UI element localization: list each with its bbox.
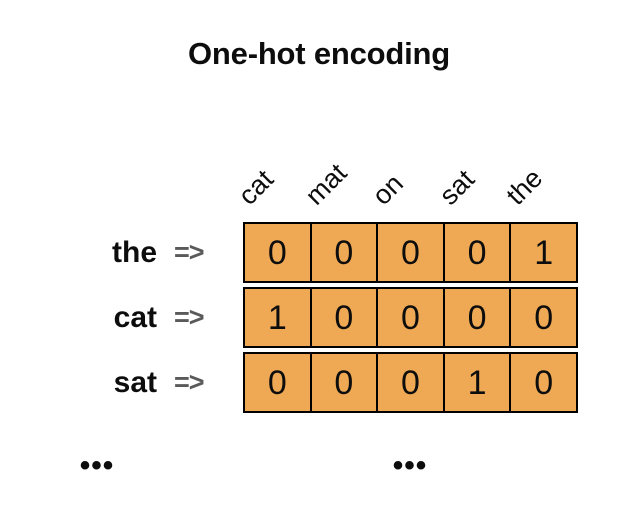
column-header-label: the xyxy=(502,164,548,210)
matrix-cell: 0 xyxy=(511,289,576,346)
row-label-sat: sat => xyxy=(0,352,232,413)
column-header-label: mat xyxy=(301,159,352,210)
column-header-label: cat xyxy=(234,165,279,210)
row-label-word: cat xyxy=(114,303,157,333)
matrix-row: 1 0 0 0 0 xyxy=(243,287,578,348)
matrix-cell: 0 xyxy=(245,224,312,281)
matrix-cell: 1 xyxy=(511,224,576,281)
matrix-cell: 0 xyxy=(245,354,312,411)
matrix-row: 0 0 0 1 0 xyxy=(243,352,578,413)
row-labels-ellipsis: ••• xyxy=(80,451,115,481)
row-label-word: sat xyxy=(114,368,157,398)
one-hot-matrix: 0 0 0 0 1 1 0 0 0 0 0 0 0 1 0 xyxy=(243,222,578,413)
matrix-cell: 0 xyxy=(511,354,576,411)
matrix-cell: 0 xyxy=(312,354,379,411)
matrix-cell: 1 xyxy=(245,289,312,346)
row-arrow-icon: => xyxy=(174,369,220,396)
row-arrow-icon: => xyxy=(174,239,220,266)
matrix-cell: 0 xyxy=(445,224,512,281)
matrix-cell: 0 xyxy=(378,224,445,281)
row-label-the: the => xyxy=(0,222,232,283)
matrix-ellipsis: ••• xyxy=(393,451,428,481)
row-arrow-icon: => xyxy=(174,304,220,331)
column-header-label: sat xyxy=(435,165,480,210)
row-label-word: the xyxy=(112,238,157,268)
matrix-row: 0 0 0 0 1 xyxy=(243,222,578,283)
matrix-cell: 0 xyxy=(445,289,512,346)
row-label-cat: cat => xyxy=(0,287,232,348)
column-header-label: on xyxy=(368,170,408,210)
column-header-row: cat mat on sat the xyxy=(0,0,638,222)
matrix-cell: 0 xyxy=(312,289,379,346)
matrix-cell: 1 xyxy=(445,354,512,411)
matrix-cell: 0 xyxy=(312,224,379,281)
matrix-cell: 0 xyxy=(378,289,445,346)
matrix-cell: 0 xyxy=(378,354,445,411)
